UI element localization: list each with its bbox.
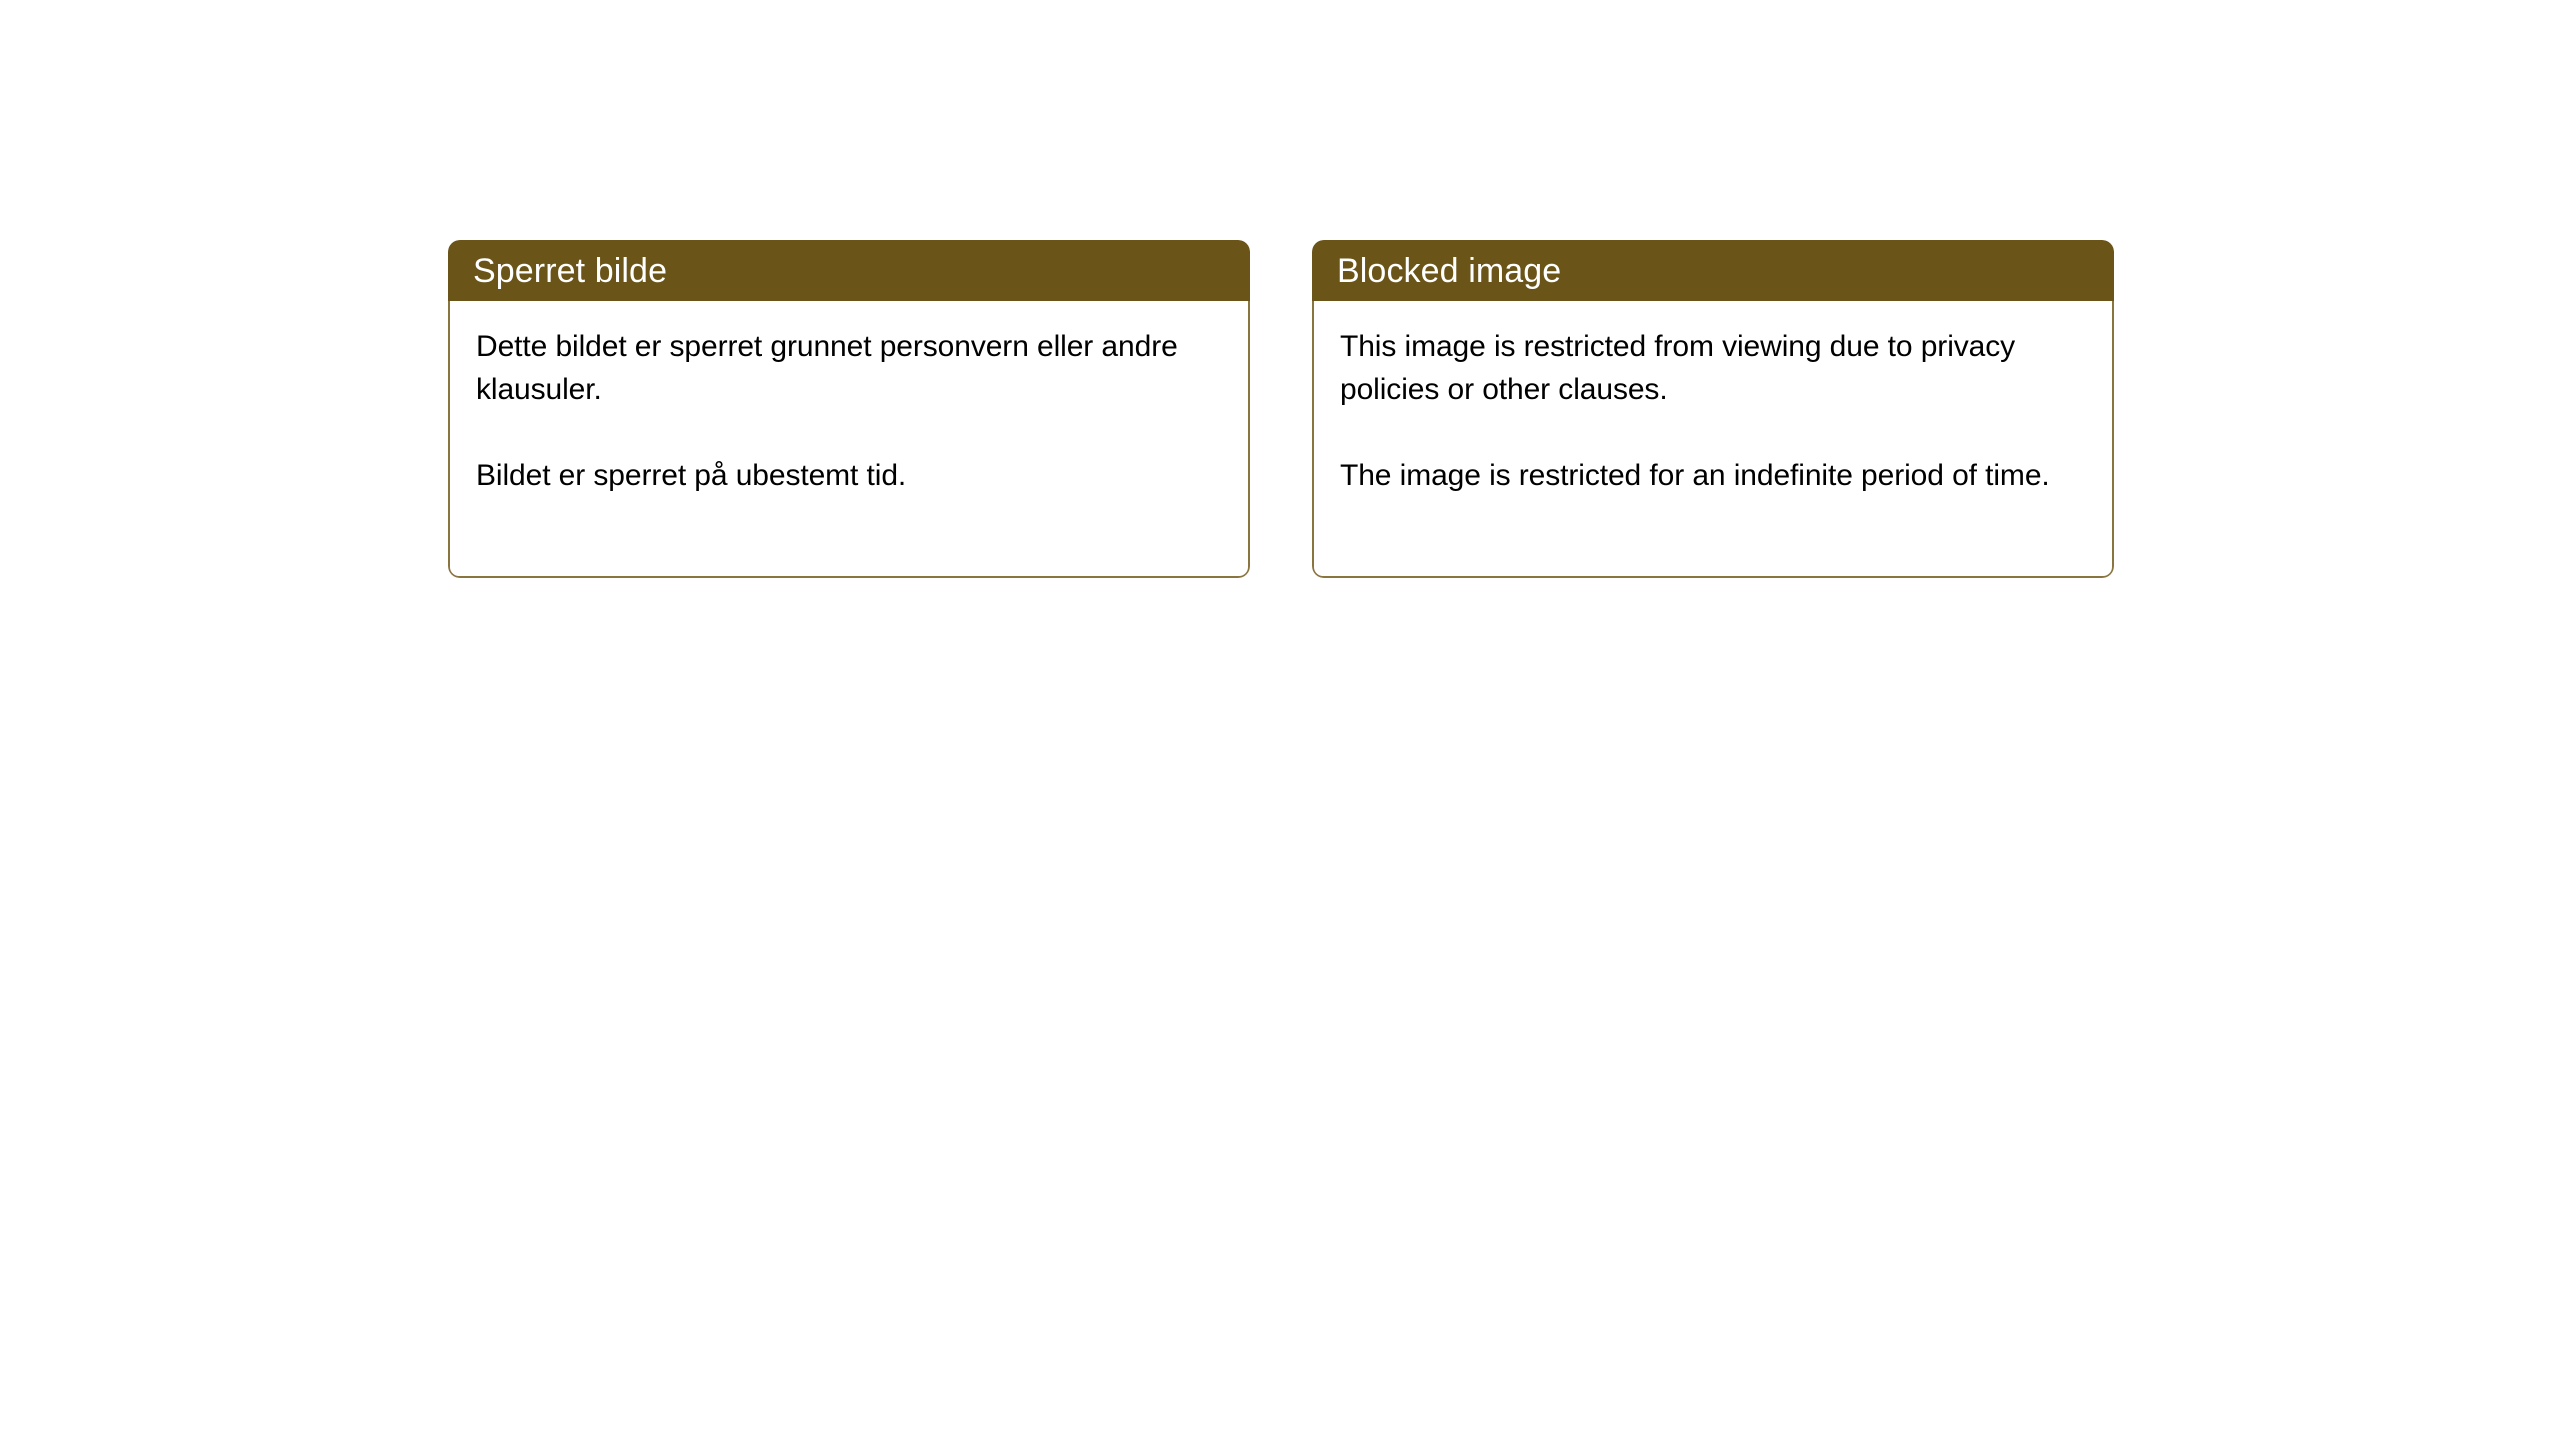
- panel-body-norwegian: Dette bildet er sperret grunnet personve…: [448, 301, 1250, 578]
- panel-body-english: This image is restricted from viewing du…: [1312, 301, 2114, 578]
- page-canvas: Sperret bilde Dette bildet er sperret gr…: [0, 0, 2560, 1440]
- notice-paragraph-reason-english: This image is restricted from viewing du…: [1340, 325, 2090, 411]
- blocked-image-notice-norwegian: Sperret bilde Dette bildet er sperret gr…: [448, 240, 1250, 578]
- panel-header-english: Blocked image: [1312, 240, 2114, 301]
- notice-paragraph-duration-english: The image is restricted for an indefinit…: [1340, 454, 2090, 497]
- panel-title-norwegian: Sperret bilde: [473, 254, 667, 288]
- notice-paragraph-reason-norwegian: Dette bildet er sperret grunnet personve…: [476, 325, 1226, 411]
- panel-title-english: Blocked image: [1337, 254, 1561, 288]
- blocked-image-notice-english: Blocked image This image is restricted f…: [1312, 240, 2114, 578]
- panel-header-norwegian: Sperret bilde: [448, 240, 1250, 301]
- notice-paragraph-duration-norwegian: Bildet er sperret på ubestemt tid.: [476, 454, 1226, 497]
